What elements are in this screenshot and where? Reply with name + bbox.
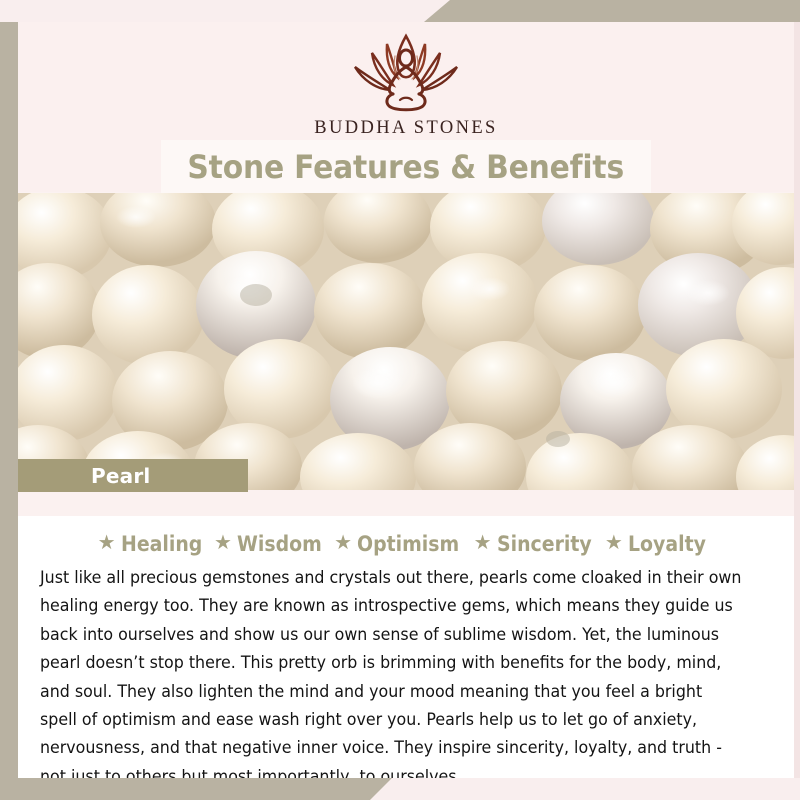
benefit-item-optimism: ★ Optimism <box>334 532 471 556</box>
benefit-label: Wisdom <box>237 532 322 556</box>
brand-logo: BUDDHA STONES <box>18 30 794 139</box>
star-icon: ★ <box>605 533 623 553</box>
body-panel: ★ Healing ★ Wisdom ★ Optimism ★ Sincerit… <box>18 490 794 778</box>
benefit-item-wisdom: ★ Wisdom <box>214 532 331 556</box>
brand-name: BUDDHA STONES <box>314 118 498 139</box>
benefits-row: ★ Healing ★ Wisdom ★ Optimism ★ Sincerit… <box>18 532 794 556</box>
stone-name-bar: Pearl <box>18 459 248 492</box>
stone-name: Pearl <box>91 464 150 488</box>
star-icon: ★ <box>98 533 116 553</box>
body-panel-tint <box>18 490 794 516</box>
description-paragraph: Just like all precious gemstones and cry… <box>40 564 742 778</box>
edge-band-right <box>794 22 800 778</box>
star-icon: ★ <box>214 533 232 553</box>
corner-band-top-right <box>424 0 800 22</box>
pearl-photo <box>18 193 794 490</box>
pearl-photo-illustration <box>18 193 794 490</box>
infographic-page: BUDDHA STONES Stone Features & Benefits <box>0 0 800 800</box>
page-title: Stone Features & Benefits <box>188 148 625 186</box>
star-icon: ★ <box>474 533 492 553</box>
lotus-meditation-icon <box>343 30 469 114</box>
star-icon: ★ <box>334 533 352 553</box>
corner-band-bottom-left <box>0 778 392 800</box>
title-banner: Stone Features & Benefits <box>161 140 651 194</box>
benefit-item-loyalty: ★ Loyalty <box>605 532 715 556</box>
benefit-label: Sincerity <box>497 532 592 556</box>
content-card: BUDDHA STONES Stone Features & Benefits <box>18 22 794 778</box>
benefit-label: Loyalty <box>628 532 706 556</box>
benefit-label: Optimism <box>357 532 459 556</box>
benefit-label: Healing <box>121 532 202 556</box>
benefit-item-sincerity: ★ Sincerity <box>474 532 602 556</box>
benefit-item-healing: ★ Healing <box>98 532 211 556</box>
edge-band-left <box>0 22 18 800</box>
